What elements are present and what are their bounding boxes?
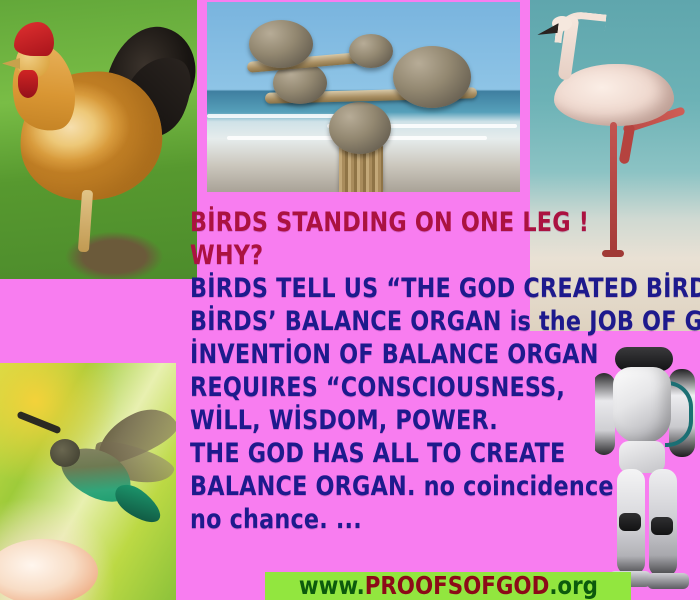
- url-prefix: www.: [298, 571, 364, 600]
- headline-text-block: BİRDS STANDING ON ONE LEG ! WHY? BİRDS T…: [190, 206, 610, 536]
- headline-line-8: THE GOD HAS ALL TO CREATE: [190, 437, 576, 470]
- website-url-banner[interactable]: www.PROOFSOFGOD.org: [265, 572, 631, 600]
- headline-line-6: REQUIRES “CONSCIOUSNESS,: [190, 371, 576, 404]
- url-domain: PROOFSOFGOD: [364, 571, 549, 600]
- stone-top-right: [349, 34, 393, 68]
- hummingbird-bill: [16, 411, 61, 435]
- balancing-stones-photo: [207, 2, 520, 192]
- headline-line-5: İNVENTİON OF BALANCE ORGAN: [190, 338, 576, 371]
- flower-blossom: [0, 539, 98, 600]
- humanoid-robot-photo: [595, 345, 700, 600]
- headline-line-2: WHY?: [190, 239, 576, 272]
- robot-left-knee: [619, 513, 641, 531]
- robot-right-foot: [647, 573, 689, 589]
- robot-torso: [613, 367, 671, 443]
- flamingo-standing-leg: [610, 122, 617, 254]
- headline-line-3: BİRDS TELL US “THE GOD CREATED BİRDS”: [190, 272, 576, 305]
- rooster-photo: [0, 0, 197, 279]
- rooster-beak: [2, 58, 20, 69]
- flamingo-raised-leg-lower: [619, 123, 636, 164]
- headline-line-1: BİRDS STANDING ON ONE LEG !: [190, 206, 576, 239]
- flamingo-body: [554, 64, 674, 126]
- hummingbird-tail: [109, 478, 166, 530]
- headline-line-10: no chance. ...: [190, 503, 576, 536]
- hummingbird-head: [50, 439, 80, 467]
- stone-large-right: [393, 46, 471, 108]
- robot-left-arm: [595, 373, 615, 455]
- stone-base: [329, 102, 391, 154]
- robot-right-knee: [651, 517, 673, 535]
- rooster-wattle: [18, 70, 38, 98]
- headline-line-7: WİLL, WİSDOM, POWER.: [190, 404, 576, 437]
- url-suffix: .org: [549, 571, 598, 600]
- hummingbird-photo: [0, 363, 176, 600]
- website-url-text: www.PROOFSOFGOD.org: [298, 573, 597, 599]
- poster-canvas: BİRDS STANDING ON ONE LEG ! WHY? BİRDS T…: [0, 0, 700, 600]
- stone-top-left: [249, 20, 313, 68]
- rooster-comb: [14, 22, 54, 56]
- headline-line-4: BİRDS’ BALANCE ORGAN is the JOB OF GOD.: [190, 305, 576, 338]
- headline-line-9: BALANCE ORGAN. no coincidence: [190, 470, 576, 503]
